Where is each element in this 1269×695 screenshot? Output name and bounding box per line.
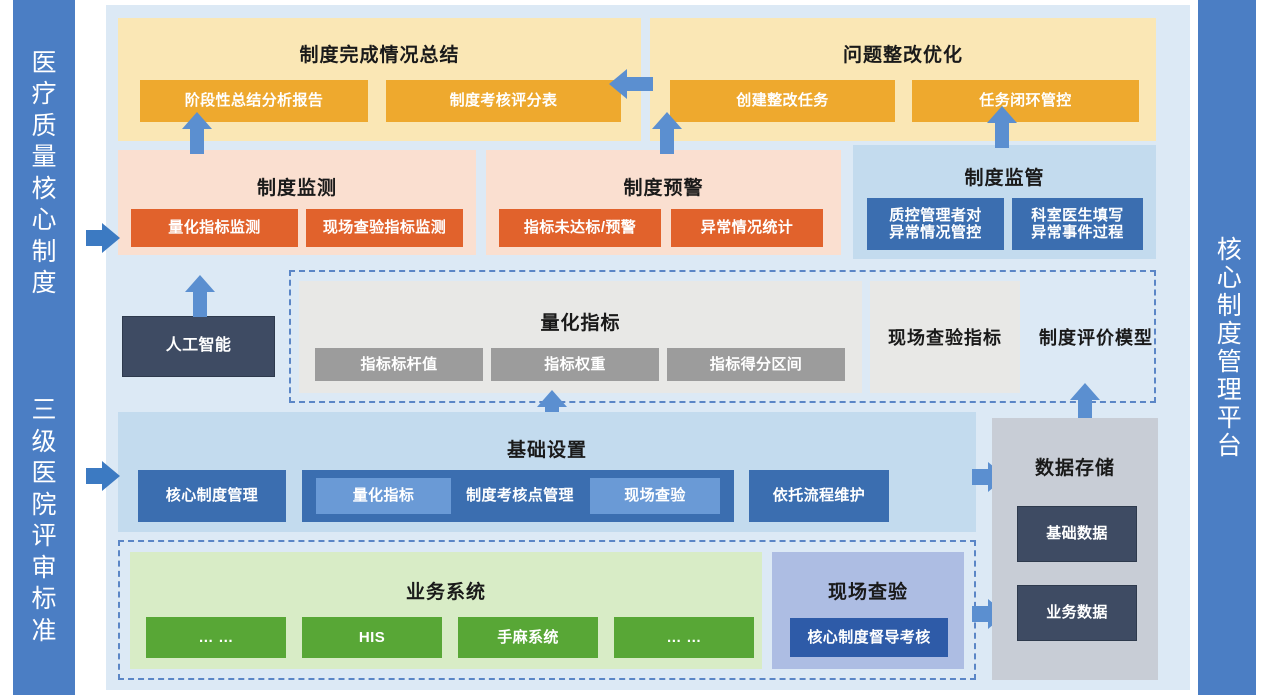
panel-warning-title: 制度预警: [486, 173, 841, 200]
chip-onsite-index-monitor[interactable]: 现场查验指标监测: [306, 209, 463, 247]
chip-core-system-supervision-assessment[interactable]: 核心制度督导考核: [790, 618, 948, 657]
panel-business-systems: 业务系统 … … HIS 手麻系统 … …: [130, 552, 762, 669]
panel-business-title: 业务系统: [130, 577, 762, 604]
panel-monitor: 制度监测 量化指标监测 现场查验指标监测: [118, 150, 476, 255]
right-sidebar-title: 核心制度管理平台: [1211, 236, 1244, 460]
panel-warning: 制度预警 指标未达标/预警 异常情况统计: [486, 150, 841, 255]
char: 量: [31, 143, 56, 171]
char: 评: [31, 522, 56, 550]
chip-onsite-check[interactable]: 现场查验: [590, 478, 720, 514]
arrow-ai-to-monitor-icon: [184, 275, 216, 317]
panel-data-storage: 数据存储 基础数据 业务数据: [992, 418, 1158, 680]
chip-index-score-range[interactable]: 指标得分区间: [667, 348, 845, 381]
panel-basic-settings: 基础设置 核心制度管理 量化指标 制度考核点管理 现场查验 依托流程维护: [118, 412, 976, 532]
chip-dependency-process-maintenance[interactable]: 依托流程维护: [749, 470, 889, 522]
arrow-warning-to-rectify-icon: [651, 112, 683, 154]
arrow-monitor-to-summary-icon: [181, 112, 213, 154]
char: 度: [31, 269, 56, 297]
char: 医: [31, 459, 56, 487]
label-assessment-point-management: 制度考核点管理: [454, 478, 586, 514]
chip-assessment-score-sheet[interactable]: 制度考核评分表: [386, 80, 621, 122]
left-sidebar-label-quality: 医 疗 质 量 核 心 制 度: [17, 48, 71, 300]
panel-quant-indicators: 量化指标 指标标杆值 指标权重 指标得分区间: [299, 281, 862, 393]
chip-business-system-anesthesia[interactable]: 手麻系统: [458, 617, 598, 658]
char: 审: [31, 554, 56, 582]
panel-storage-title: 数据存储: [992, 453, 1158, 480]
arrow-rectify-to-summary-icon: [609, 67, 653, 101]
chip-qc-manager-abnormal-control[interactable]: 质控管理者对 异常情况管控: [867, 198, 1004, 250]
chip-stage-summary-report[interactable]: 阶段性总结分析报告: [140, 80, 368, 122]
char: 标: [31, 585, 56, 613]
chip-business-data[interactable]: 业务数据: [1017, 585, 1137, 641]
chip-create-rectify-task[interactable]: 创建整改任务: [670, 80, 895, 122]
char: 准: [31, 617, 56, 645]
panel-onsite-check: 现场查验 核心制度督导考核: [772, 552, 964, 669]
arrow-supervise-to-rectify-icon: [986, 106, 1018, 148]
chip-business-system-4[interactable]: … …: [614, 617, 754, 658]
chip-business-system-1[interactable]: … …: [146, 617, 286, 658]
chip-abnormal-statistics[interactable]: 异常情况统计: [671, 209, 823, 247]
chip-core-system-management[interactable]: 核心制度管理: [138, 470, 286, 522]
arrow-into-basic-icon: [86, 460, 120, 492]
char: 三: [31, 396, 56, 424]
char: 医: [31, 49, 56, 77]
diagram-canvas: 医 疗 质 量 核 心 制 度 三 级 医 院 评 审 标 准 核心制度管理平台…: [0, 0, 1269, 695]
chip-basic-data[interactable]: 基础数据: [1017, 506, 1137, 562]
char: 核: [31, 175, 56, 203]
panel-supervise-title: 制度监管: [853, 163, 1156, 190]
panel-onsite-check-title: 现场查验: [772, 577, 964, 604]
chip-task-closed-loop-control[interactable]: 任务闭环管控: [912, 80, 1139, 122]
chip-index-weight[interactable]: 指标权重: [491, 348, 659, 381]
panel-monitor-title: 制度监测: [118, 173, 476, 200]
chip-quant-index-monitor[interactable]: 量化指标监测: [131, 209, 298, 247]
chip-index-benchmark-value[interactable]: 指标标杆值: [315, 348, 483, 381]
panel-supervise: 制度监管 质控管理者对 异常情况管控 科室医生填写 异常事件过程: [853, 145, 1156, 259]
panel-summary-title: 制度完成情况总结: [118, 40, 641, 67]
panel-basic-title: 基础设置: [118, 435, 976, 462]
block-onsite-check-index: 现场查验指标: [870, 281, 1020, 393]
main-canvas: 制度完成情况总结 阶段性总结分析报告 制度考核评分表 问题整改优化 创建整改任务…: [106, 5, 1190, 690]
char: 制: [31, 238, 56, 266]
char: 院: [31, 491, 56, 519]
chip-quantified-index[interactable]: 量化指标: [316, 478, 451, 514]
arrow-into-monitor-icon: [86, 222, 120, 254]
panel-rectify-title: 问题整改优化: [650, 40, 1156, 67]
char: 质: [31, 112, 56, 140]
group-assessment-point-management: 量化指标 制度考核点管理 现场查验: [302, 470, 734, 522]
char: 疗: [31, 80, 56, 108]
panel-quant-title: 量化指标: [299, 308, 862, 335]
left-sidebar-bar: 医 疗 质 量 核 心 制 度 三 级 医 院 评 审 标 准: [13, 0, 75, 695]
panel-rectify: 问题整改优化 创建整改任务 任务闭环管控: [650, 18, 1156, 141]
left-sidebar-label-accreditation: 三 级 医 院 评 审 标 准: [17, 395, 71, 647]
block-system-evaluation-model: 制度评价模型: [1026, 281, 1166, 393]
chip-doctor-fill-abnormal-event[interactable]: 科室医生填写 异常事件过程: [1012, 198, 1143, 250]
chip-artificial-intelligence[interactable]: 人工智能: [122, 316, 275, 377]
char: 级: [31, 428, 56, 456]
char: 心: [31, 206, 56, 234]
right-sidebar-bar: 核心制度管理平台: [1198, 0, 1256, 695]
chip-index-below-standard-alert[interactable]: 指标未达标/预警: [499, 209, 661, 247]
chip-business-system-his[interactable]: HIS: [302, 617, 442, 658]
